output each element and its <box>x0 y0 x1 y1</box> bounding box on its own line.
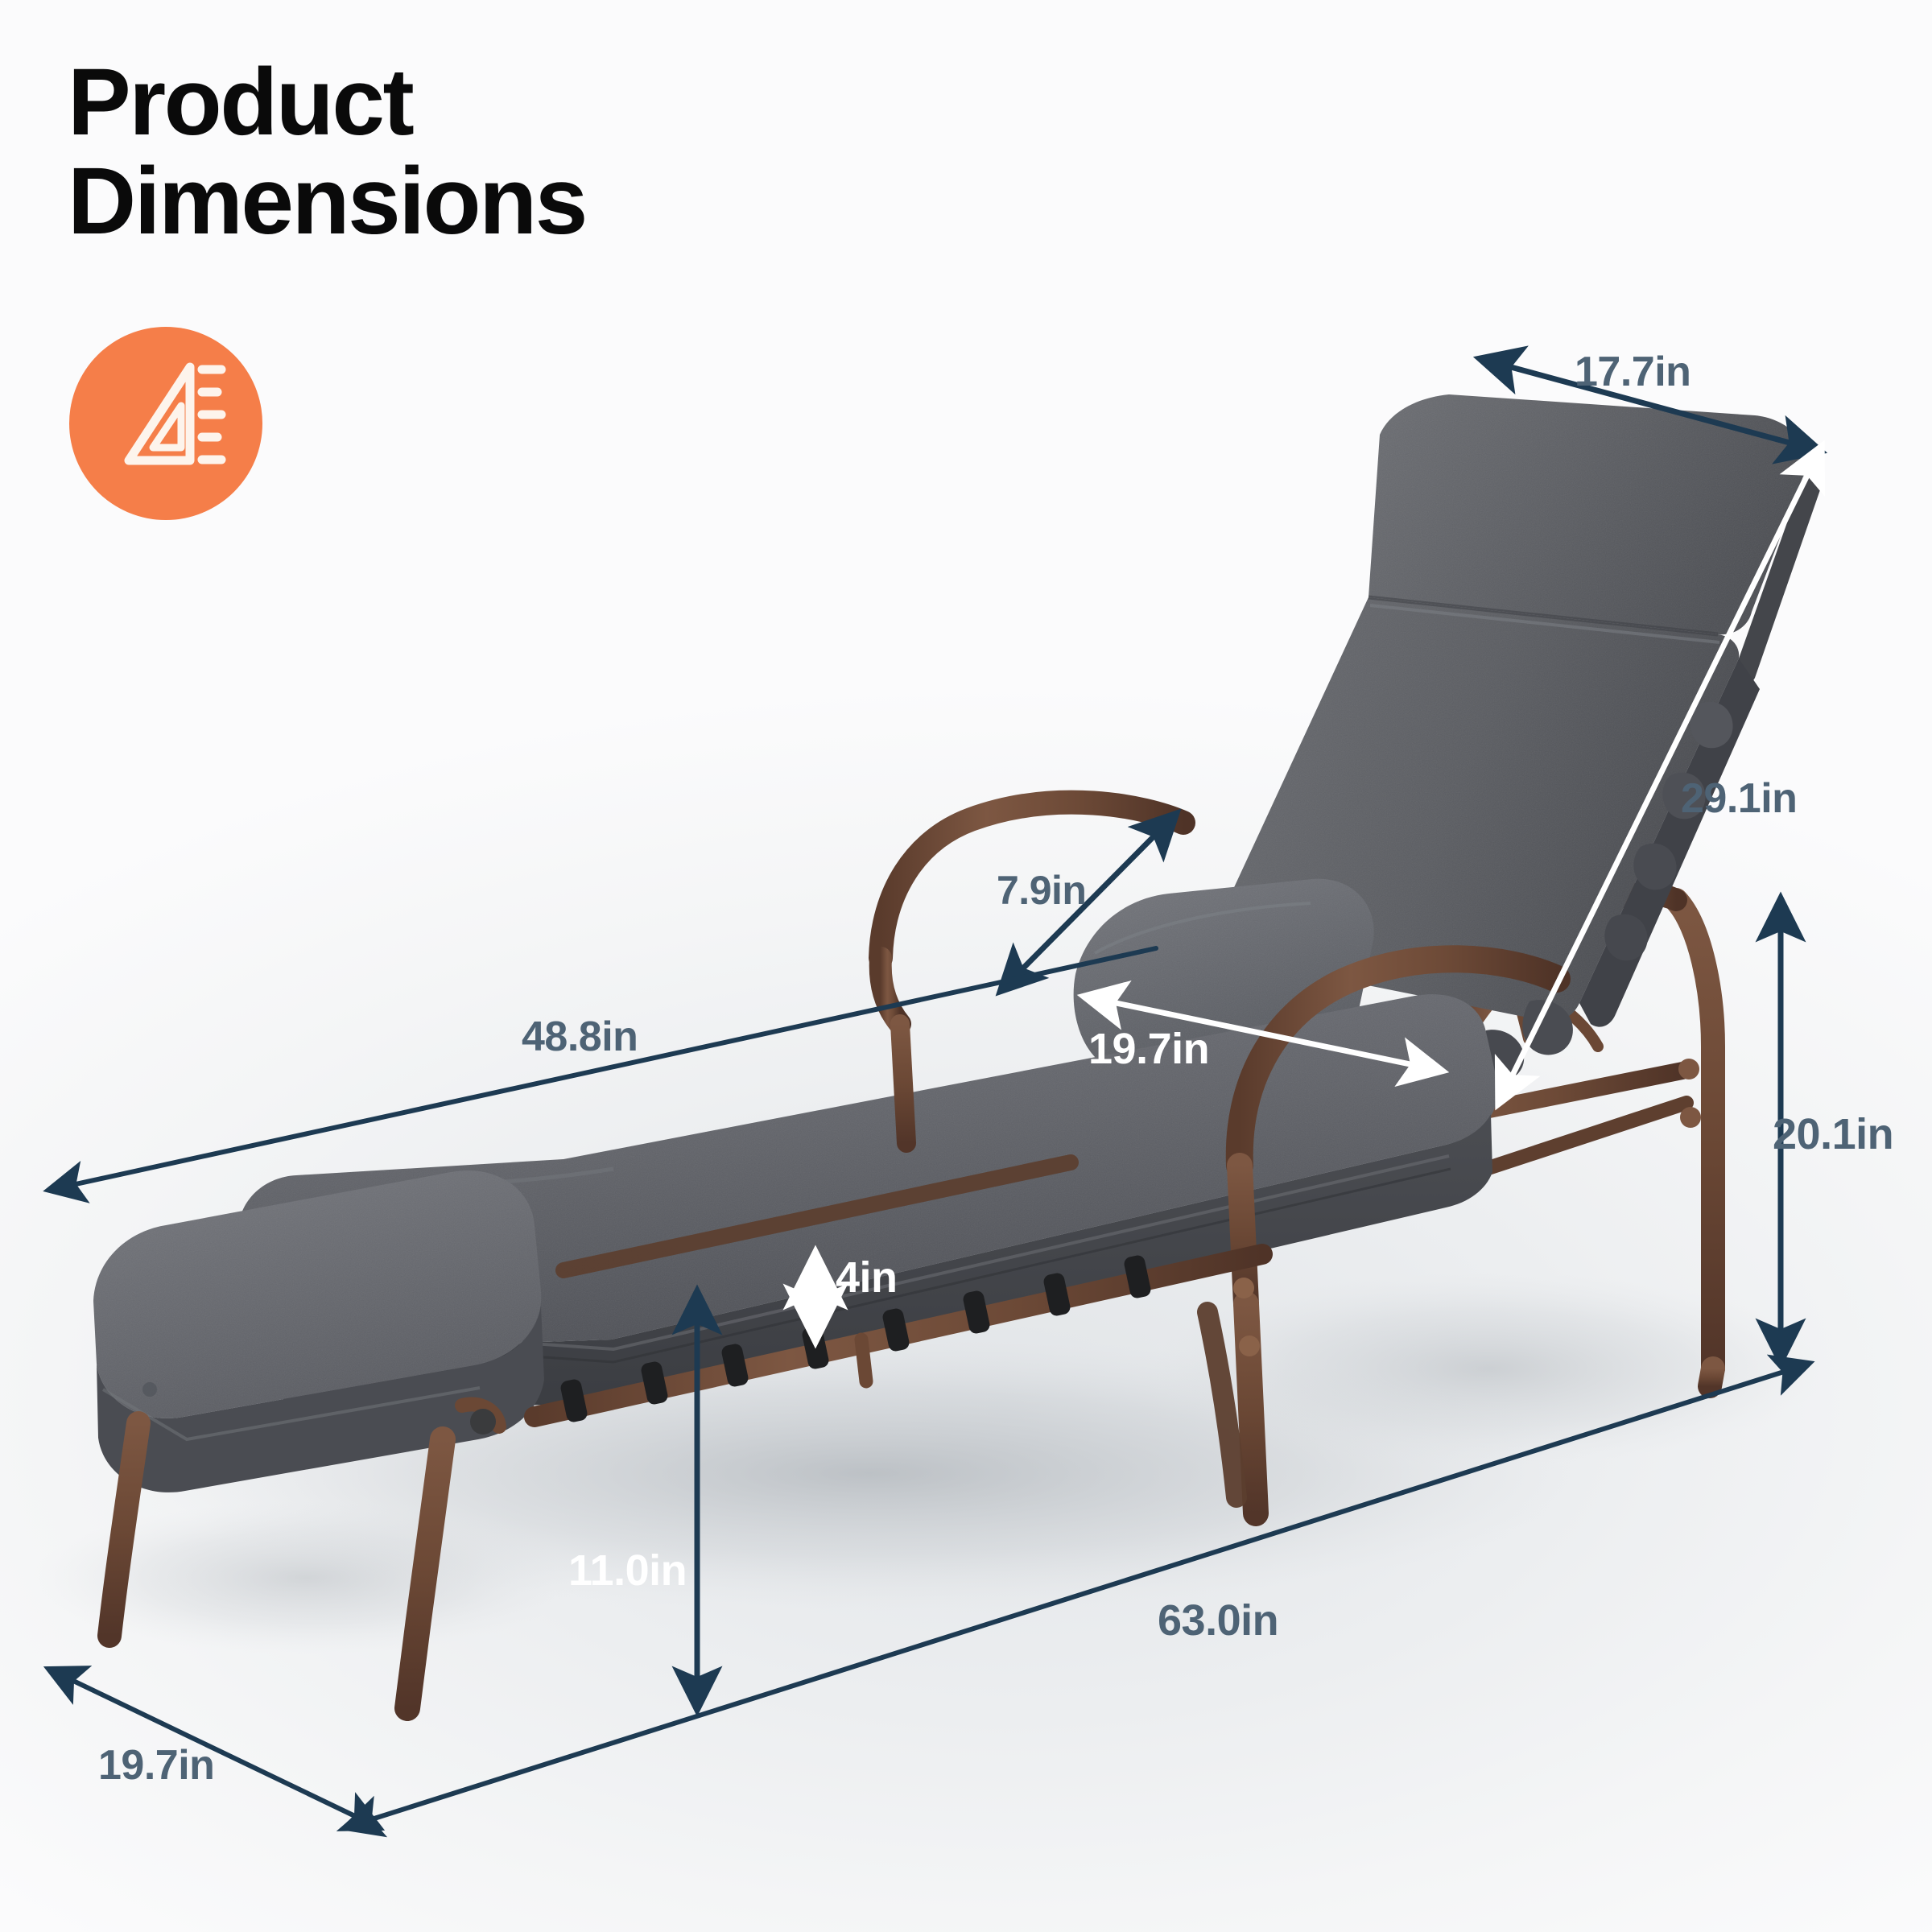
dim-label-overall-height: 20.1in <box>1773 1109 1893 1159</box>
dim-label-seat-height: 11.0in <box>568 1546 687 1596</box>
dim-label-seat-width: 19.7in <box>1088 1024 1209 1074</box>
dim-label-overall-width: 19.7in <box>98 1741 214 1790</box>
product-illustration <box>0 0 1932 1932</box>
dim-label-backrest-height: 29.1in <box>1681 774 1797 823</box>
infographic-canvas: Product Dimensions <box>0 0 1932 1932</box>
dim-label-cushion-length: 48.8in <box>522 1013 638 1061</box>
dim-label-overall-length: 63.0in <box>1158 1596 1278 1645</box>
dim-label-backrest-width: 17.7in <box>1575 348 1690 396</box>
dim-label-cushion-thickness: 4in <box>836 1253 898 1302</box>
dim-label-armrest-to-seat: 7.9in <box>997 867 1086 914</box>
